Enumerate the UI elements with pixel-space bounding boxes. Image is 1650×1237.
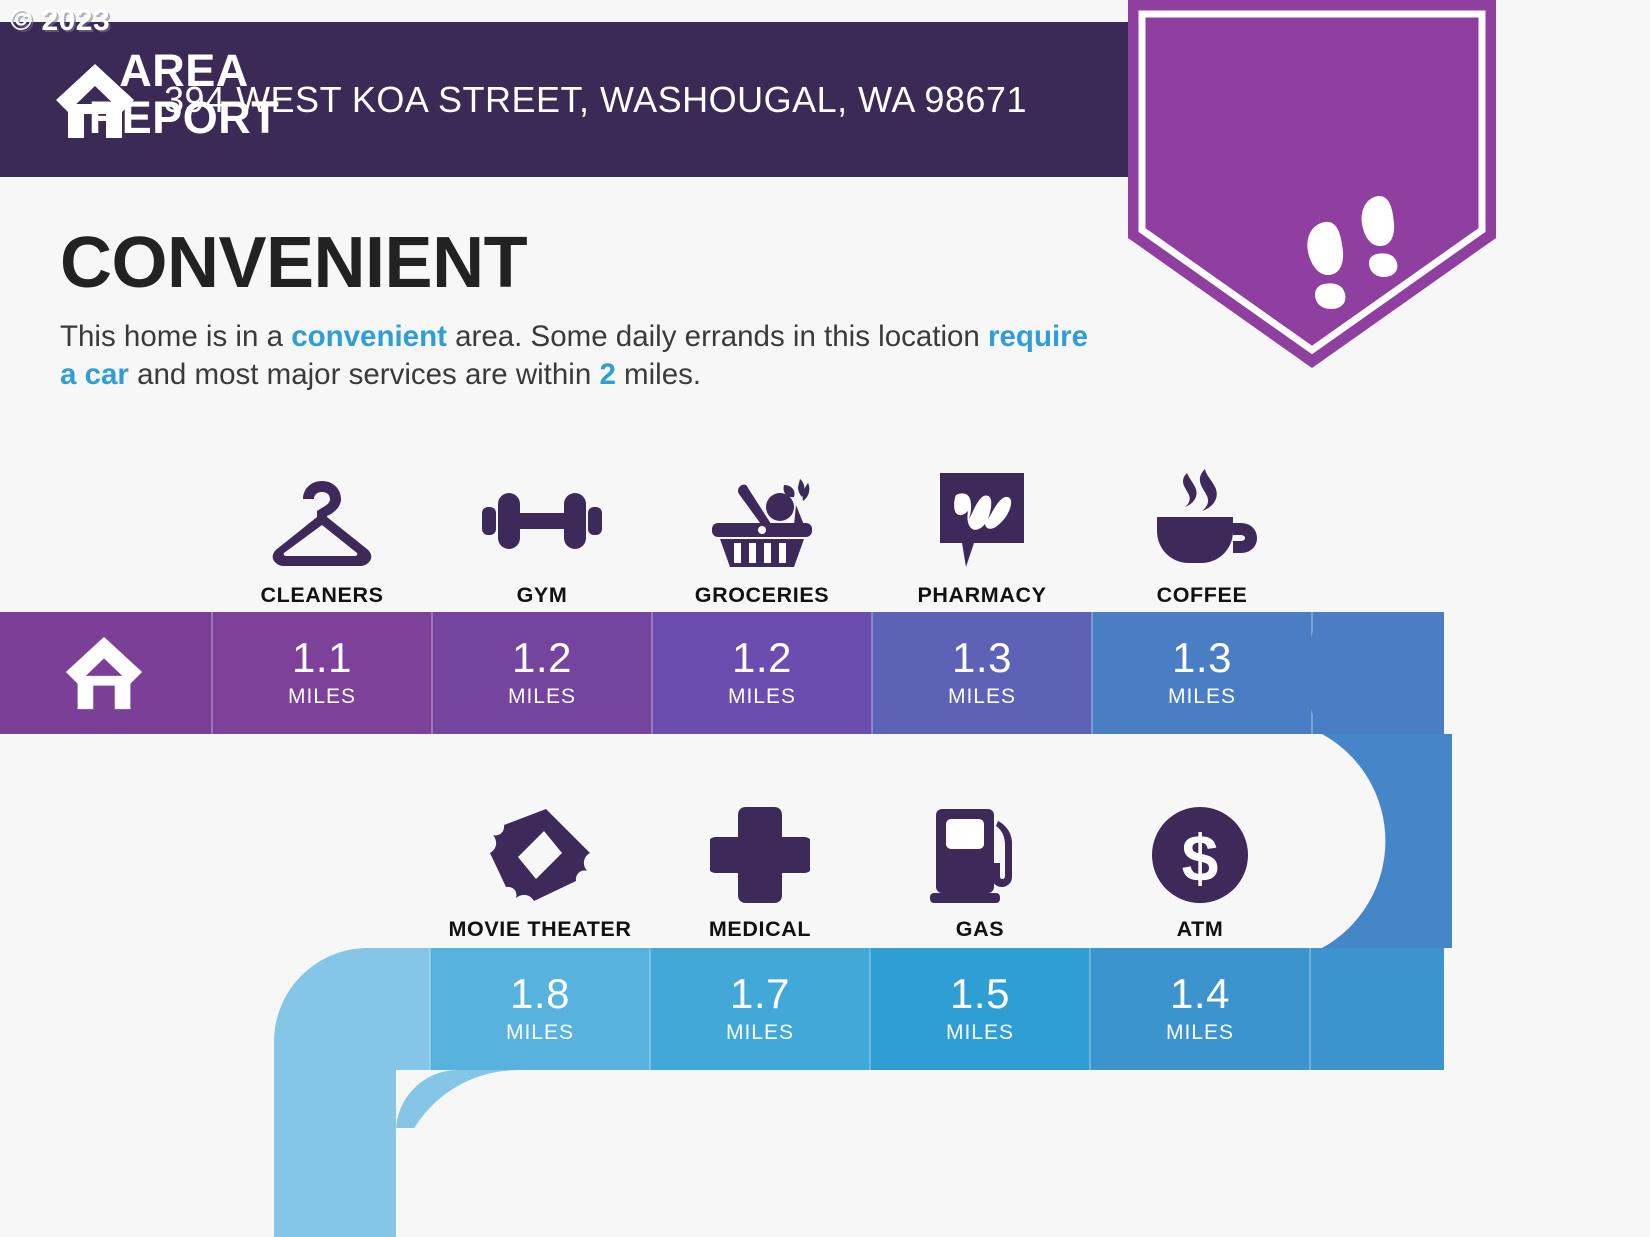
amenity-gas: GAS [870,782,1090,942]
desc-part-3: and most major services are within [129,358,600,391]
gas-pump-icon [928,801,1032,909]
distance-unit: MILES [506,1021,574,1045]
amenity-atm: $ ATM [1090,782,1310,942]
desc-highlight-miles: 2 [599,358,615,391]
amenity-groceries: GROCERIES [652,448,872,608]
distance-value: 1.2 [512,637,572,679]
amenity-label: ATM [1177,917,1224,942]
distance-value: 1.2 [732,637,792,679]
distance-unit: MILES [728,685,796,709]
distance-unit: MILES [948,685,1016,709]
amenity-label: COFFEE [1157,583,1248,608]
house-icon [52,60,138,140]
area-report-page: 394 WEST KOA STREET, WASHOUGAL, WA 98671… [0,0,1650,1237]
coffee-cup-icon [1147,467,1257,575]
distance-unit: MILES [288,685,356,709]
distance-cell: 1.5 MILES [870,948,1090,1070]
distance-cell: 1.4 MILES [1090,948,1310,1070]
distance-unit: MILES [1168,685,1236,709]
distance-value: 1.3 [952,637,1012,679]
dollar-circle-icon: $ [1148,801,1252,909]
distance-value: 1.7 [730,973,790,1015]
amenity-medical: MEDICAL [650,782,870,942]
ticket-icon [484,801,596,909]
svg-text:$: $ [1182,821,1219,895]
amenity-label: PHARMACY [917,583,1046,608]
amenity-label: GAS [956,917,1004,942]
distance-value: 1.8 [510,973,570,1015]
distance-unit: MILES [508,685,576,709]
amenity-coffee: COFFEE [1092,448,1312,608]
hanger-icon [269,467,375,575]
amenity-gym: GYM [432,448,652,608]
description-text: This home is in a convenient area. Some … [60,318,1100,394]
page-title: CONVENIENT [60,222,527,304]
dumbbell-icon [478,467,606,575]
amenity-icons-row-2: MOVIE THEATER MEDICAL GAS [430,782,1310,942]
distance-unit: MILES [946,1021,1014,1045]
distance-cell: 1.2 MILES [432,612,652,734]
distance-cell: 1.3 MILES [1092,612,1312,734]
desc-part-4: miles. [616,358,701,391]
area-report-banner [1128,0,1496,368]
medical-cross-icon [710,801,810,909]
amenity-icons-row-1: CLEANERS GYM [212,448,1312,608]
distance-cell: 1.7 MILES [650,948,870,1070]
amenity-pharmacy: PHARMACY [872,448,1092,608]
amenity-cleaners: CLEANERS [212,448,432,608]
distance-value: 1.1 [292,637,352,679]
distance-value: 1.5 [950,973,1010,1015]
basket-icon [704,467,820,575]
distance-cell: 1.1 MILES [212,612,432,734]
desc-highlight-convenient: convenient [291,320,447,353]
amenity-label: MEDICAL [709,917,811,942]
distance-value: 1.4 [1170,973,1230,1015]
distance-values-row-2: 1.8 MILES 1.7 MILES 1.5 MILES 1.4 MILES [430,948,1310,1070]
walgreens-w-icon [936,467,1028,575]
desc-part-1: This home is in a [60,320,291,353]
home-marker-icon [62,632,146,712]
amenity-label: MOVIE THEATER [449,917,632,942]
copyright-watermark: © 2023 [10,4,110,38]
amenity-label: GROCERIES [695,583,829,608]
distance-unit: MILES [1166,1021,1234,1045]
amenity-movie-theater: MOVIE THEATER [430,782,650,942]
distance-unit: MILES [726,1021,794,1045]
distance-cell: 1.8 MILES [430,948,650,1070]
amenity-label: CLEANERS [260,583,383,608]
distance-cell: 1.3 MILES [872,612,1092,734]
distance-value: 1.3 [1172,637,1232,679]
desc-part-2: area. Some daily errands in this locatio… [447,320,988,353]
amenity-label: GYM [517,583,568,608]
distance-cell: 1.2 MILES [652,612,872,734]
property-address: 394 WEST KOA STREET, WASHOUGAL, WA 98671 [164,79,1027,121]
distance-values-row-1: 1.1 MILES 1.2 MILES 1.2 MILES 1.3 MILES … [212,612,1312,734]
header-bar: 394 WEST KOA STREET, WASHOUGAL, WA 98671 [0,22,1195,177]
